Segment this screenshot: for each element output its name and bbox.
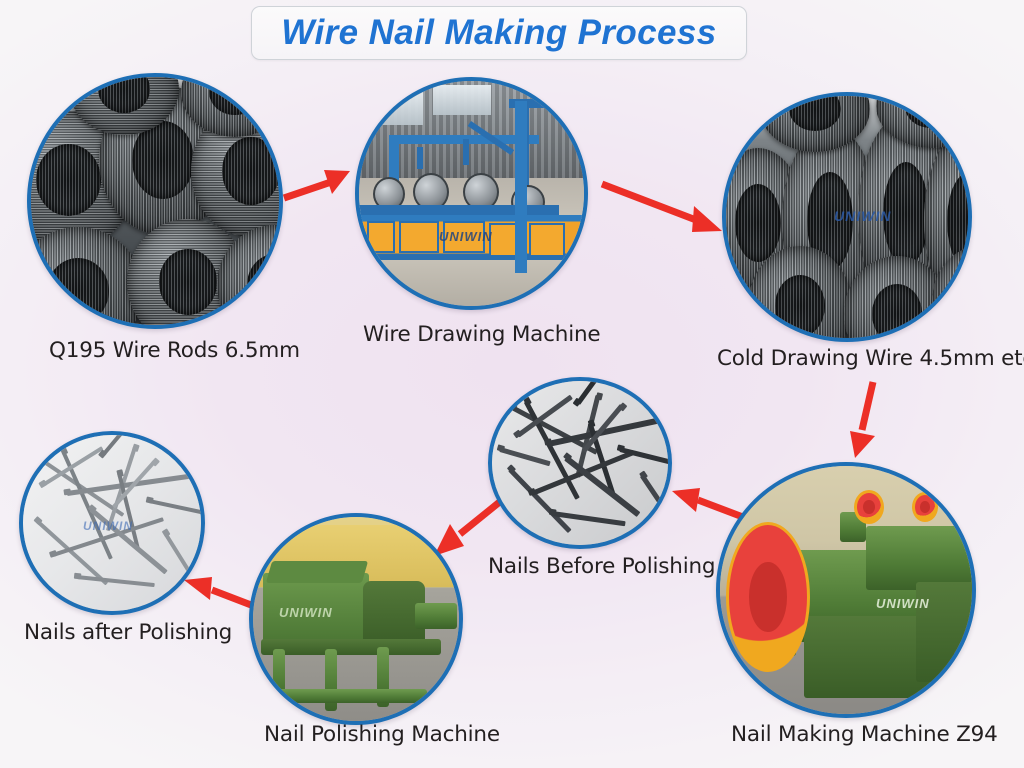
step-cold-drawn-wire-caption: Cold Drawing Wire 4.5mm etc bbox=[717, 346, 1024, 371]
nail-polishing-machine-image: UNIWIN bbox=[253, 517, 459, 721]
step-nail-polishing-caption: Nail Polishing Machine bbox=[264, 722, 500, 747]
process-diagram: Wire Nail Making Process bbox=[0, 0, 1024, 768]
arrow-wire-rods-to-wire-drawing bbox=[280, 150, 360, 210]
page-title: Wire Nail Making Process bbox=[251, 6, 747, 60]
wire-drawing-machine-image: UNIWIN bbox=[359, 81, 584, 306]
arrow-wire-drawing-to-cold-drawn-wire bbox=[598, 178, 730, 248]
step-nail-polishing-photo[interactable]: UNIWIN bbox=[249, 513, 463, 725]
step-wire-drawing-caption: Wire Drawing Machine bbox=[363, 322, 600, 347]
step-wire-rods-photo[interactable] bbox=[27, 73, 283, 329]
brand-watermark: UNIWIN bbox=[83, 519, 133, 533]
brand-watermark: UNIWIN bbox=[834, 208, 891, 224]
nail-making-machine-image: UNIWIN bbox=[720, 466, 972, 714]
brand-watermark: UNIWIN bbox=[876, 596, 930, 611]
step-wire-drawing-photo[interactable]: UNIWIN bbox=[355, 77, 588, 310]
page-title-text: Wire Nail Making Process bbox=[281, 13, 716, 53]
step-nail-making-caption: Nail Making Machine Z94 bbox=[731, 722, 998, 747]
step-nails-before-photo[interactable] bbox=[488, 377, 672, 549]
unpolished-nails-image bbox=[492, 381, 668, 545]
brand-watermark: UNIWIN bbox=[439, 229, 493, 244]
step-cold-drawn-wire-photo[interactable]: UNIWIN bbox=[722, 92, 972, 342]
arrow-cold-drawn-wire-to-nail-making bbox=[835, 378, 895, 462]
coils-of-steel-wire-rod-image bbox=[31, 77, 279, 325]
cold-drawn-wire-coils-image: UNIWIN bbox=[726, 96, 968, 338]
step-nails-after-caption: Nails after Polishing bbox=[24, 620, 232, 645]
step-nail-making-photo[interactable]: UNIWIN bbox=[716, 462, 976, 718]
step-nails-after-photo[interactable]: UNIWIN bbox=[19, 431, 205, 615]
step-nails-before-caption: Nails Before Polishing bbox=[488, 554, 715, 579]
brand-watermark: UNIWIN bbox=[279, 605, 333, 620]
step-wire-rods-caption: Q195 Wire Rods 6.5mm bbox=[49, 338, 300, 363]
polished-nails-image: UNIWIN bbox=[23, 435, 201, 611]
